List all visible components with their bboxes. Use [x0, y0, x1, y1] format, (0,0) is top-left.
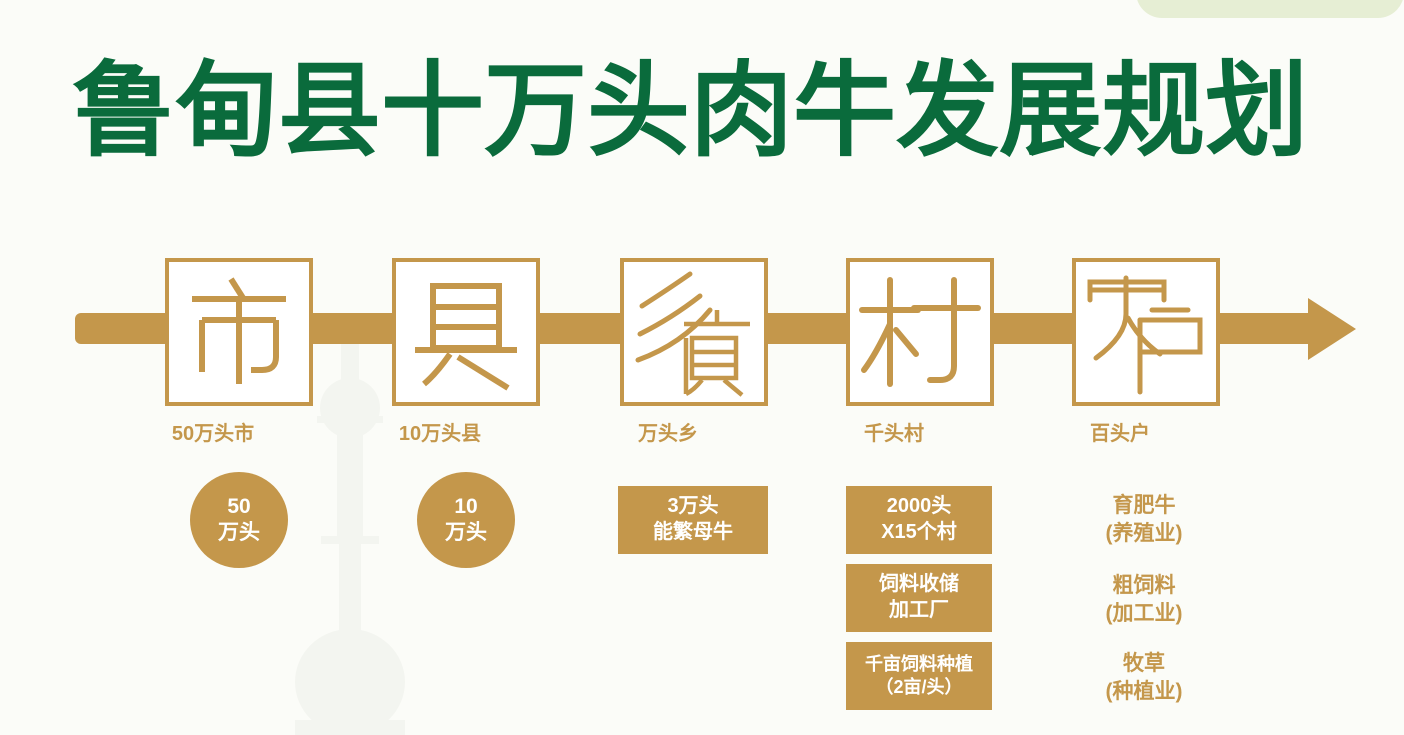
metric-line: 粗饲料 — [1054, 572, 1234, 600]
metric-line: X15个村 — [881, 520, 957, 546]
metric-line: 10 — [454, 494, 477, 520]
metric-line: 育肥牛 — [1054, 492, 1234, 520]
green-rounded-accent-shape — [1136, 0, 1404, 18]
metric-line: （2亩/头） — [875, 676, 962, 699]
metric-text-household-roughage: 粗饲料 (加工业) — [1054, 572, 1234, 628]
metric-circle-county[interactable]: 10 万头 — [417, 472, 515, 568]
metric-line: 2000头 — [887, 494, 952, 520]
metric-line: 牧草 — [1054, 650, 1234, 678]
metric-line: 万头 — [218, 520, 260, 546]
flow-node-label-township: 万头乡 — [568, 417, 768, 446]
flow-node-label-village: 千头村 — [794, 417, 994, 446]
infographic-canvas: 鲁甸县十万头肉牛发展规划 50万头市 — [0, 0, 1404, 735]
metric-circle-city[interactable]: 50 万头 — [190, 472, 288, 568]
flow-node-label-household: 百头户 — [1020, 417, 1220, 446]
flow-node-city[interactable] — [165, 258, 313, 406]
metric-line: 饲料收储 — [879, 572, 959, 598]
glyph-xian-icon — [396, 262, 536, 402]
flow-node-village[interactable] — [846, 258, 994, 406]
glyph-xiangzhen-icon — [624, 262, 764, 402]
metric-text-household-forage: 牧草 (种植业) — [1054, 650, 1234, 706]
metric-box-village-herd[interactable]: 2000头 X15个村 — [846, 486, 992, 554]
metric-box-village-forage-planting[interactable]: 千亩饲料种植 （2亩/头） — [846, 642, 992, 710]
metric-line: 能繁母牛 — [653, 520, 733, 546]
flow-node-label-county: 10万头县 — [340, 417, 540, 446]
arrow-head-icon — [1266, 298, 1356, 360]
metric-line: 千亩饲料种植 — [865, 653, 973, 676]
glyph-nonghu-icon — [1076, 262, 1216, 402]
flow-node-label-city: 50万头市 — [113, 417, 313, 446]
metric-box-village-feed-plant[interactable]: 饲料收储 加工厂 — [846, 564, 992, 632]
metric-line: 加工厂 — [889, 598, 949, 624]
flow-node-township[interactable] — [620, 258, 768, 406]
metric-line: 3万头 — [667, 494, 718, 520]
metric-line: 万头 — [445, 520, 487, 546]
metric-line: 50 — [227, 494, 250, 520]
metric-text-household-fattening: 育肥牛 (养殖业) — [1054, 492, 1234, 548]
metric-line: (种植业) — [1054, 678, 1234, 706]
glyph-cun-icon — [850, 262, 990, 402]
flow-node-household[interactable] — [1072, 258, 1220, 406]
flow-node-county[interactable] — [392, 258, 540, 406]
metric-line: (养殖业) — [1054, 520, 1234, 548]
page-title: 鲁甸县十万头肉牛发展规划 — [72, 56, 1308, 165]
metric-box-township-breeding-cows[interactable]: 3万头 能繁母牛 — [618, 486, 768, 554]
metric-line: (加工业) — [1054, 600, 1234, 628]
glyph-shi-icon — [169, 262, 309, 402]
